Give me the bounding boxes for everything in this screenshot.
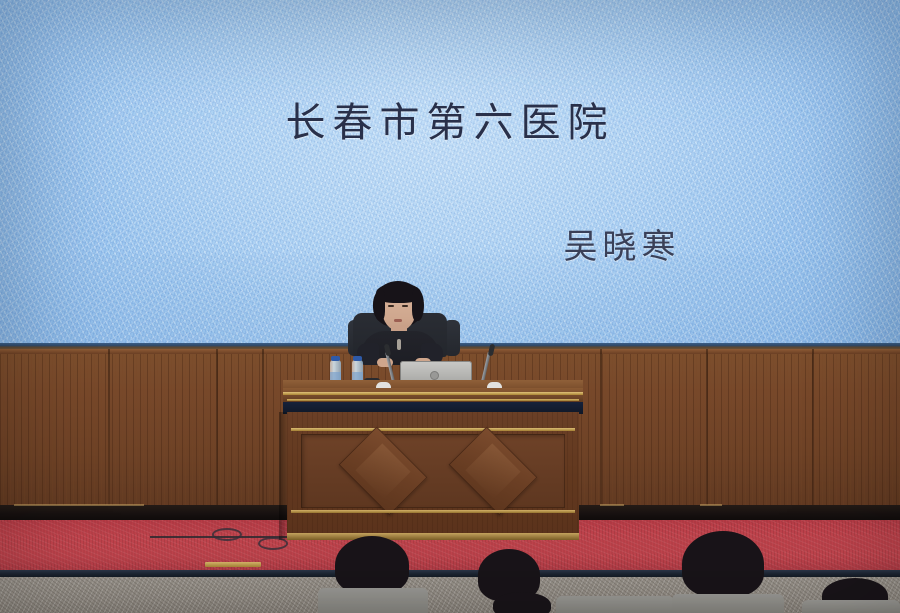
speaker-hair-left xyxy=(374,291,385,321)
speaker-hair-right xyxy=(412,290,424,321)
audience-seat xyxy=(556,596,674,613)
desk-gold-trim xyxy=(287,399,579,401)
speaker-eye-right xyxy=(402,305,408,307)
wall-panel-seam xyxy=(600,349,602,524)
speaker-eye-left xyxy=(388,305,394,307)
speaker-mouth xyxy=(394,319,402,322)
wall-panel-seam xyxy=(108,349,110,524)
audience-head xyxy=(682,531,764,597)
speaker-figure xyxy=(355,281,447,361)
slide-title: 长春市第六医院 xyxy=(0,90,900,148)
wall-panel-seam xyxy=(216,349,218,524)
water-bottle-cap xyxy=(353,356,362,361)
baseboard-highlight xyxy=(14,504,144,506)
podium-gold-trim-top xyxy=(291,428,575,431)
projection-screen xyxy=(0,0,900,347)
wall-panel-seam xyxy=(812,349,814,524)
stage-floor-marker xyxy=(205,562,261,567)
speaker-necklace xyxy=(397,339,401,350)
screen-vignette xyxy=(0,0,900,347)
audience-seat xyxy=(672,594,784,613)
desk-gold-trim xyxy=(283,392,583,395)
audience-seat xyxy=(802,600,900,613)
audience-head xyxy=(493,592,551,613)
audience-head xyxy=(335,536,409,594)
wall-panel-seam xyxy=(262,349,264,524)
floor-cable-loop xyxy=(212,528,242,541)
laptop-logo xyxy=(430,371,439,380)
audience-seat xyxy=(318,588,428,613)
podium-base-trim xyxy=(287,533,579,540)
podium-gold-trim-bottom xyxy=(291,510,575,513)
baseboard-highlight xyxy=(600,504,624,506)
baseboard-highlight xyxy=(700,504,722,506)
water-bottle-cap xyxy=(331,356,340,361)
conference-hall-photo: 长春市第六医院 吴晓寒 xyxy=(0,0,900,613)
wall-panel-seam xyxy=(706,349,708,524)
slide-subtitle: 吴晓寒 xyxy=(172,219,900,268)
